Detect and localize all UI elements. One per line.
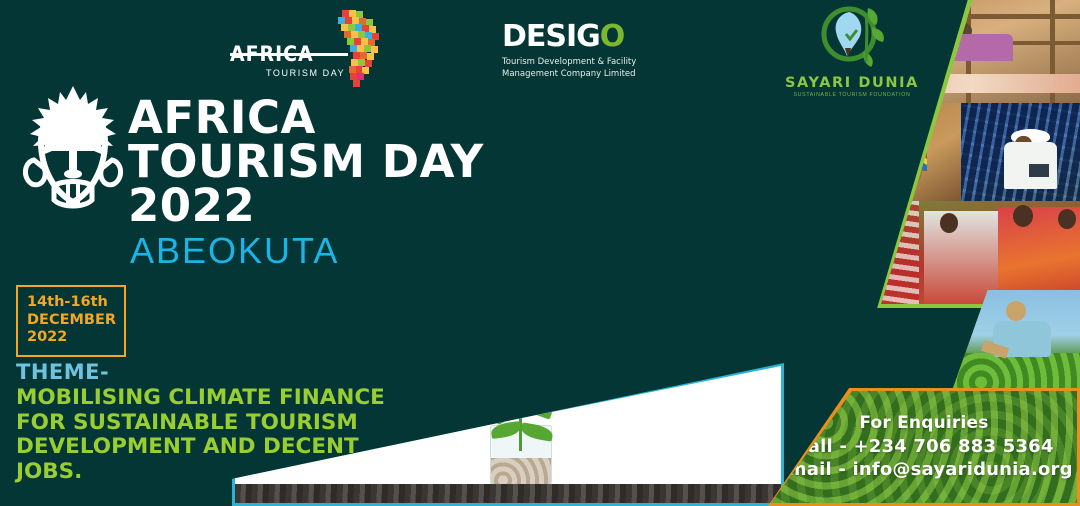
atd-tagline: TOURISM DAY (266, 68, 345, 78)
date-line-1: 14th-16th (27, 294, 115, 312)
collage-middle-row (830, 103, 1080, 200)
sprout-leaf (521, 395, 554, 419)
theme-body-line-2: FOR SUSTAINABLE TOURISM (16, 411, 416, 436)
desigo-tagline-line1: Tourism Development & Facility (502, 56, 682, 68)
desigo-wordmark-o: O (600, 19, 625, 54)
atd-strike-line (230, 53, 348, 56)
desigo-logo: DESIGO Tourism Development & Facility Ma… (502, 22, 682, 81)
african-tribal-mask-icon (14, 84, 132, 219)
coins-pile (491, 458, 551, 486)
headline-line-1: AFRICA (128, 96, 548, 140)
date-line-2: DECEMBER (27, 312, 115, 330)
theme-body-line-1: MOBILISING CLIMATE FINANCE (16, 386, 416, 411)
hero-headline: AFRICA TOURISM DAY 2022 ABEOKUTA (128, 96, 548, 272)
desigo-wordmark-text: DESIG (502, 19, 600, 54)
headline-line-3: 2022 (128, 184, 548, 228)
contact-panel-inner: For Enquiries Call - +234 706 883 5364 E… (771, 391, 1077, 503)
maasai-group-photo (830, 201, 1080, 304)
desigo-wordmark: DESIGO (502, 22, 682, 52)
headline-city: ABEOKUTA (130, 230, 548, 272)
desigo-tagline-line2: Management Company Limited (502, 68, 682, 80)
africa-tourism-day-banner: AFRICA TOURISM DAY DESIGO Tourism Develo… (0, 0, 1080, 506)
date-line-3: 2022 (27, 329, 115, 347)
africa-tourism-day-logo: AFRICA TOURISM DAY (228, 8, 388, 90)
sayari-dunia-logo: SAYARI DUNIA SUSTAINABLE TOURISM FOUNDAT… (782, 4, 922, 98)
theme-label: THEME- (16, 360, 416, 384)
contact-panel: For Enquiries Call - +234 706 883 5364 E… (768, 388, 1080, 506)
sayari-dunia-subtitle: SUSTAINABLE TOURISM FOUNDATION (782, 92, 922, 98)
headline-line-2: TOURISM DAY (128, 140, 548, 184)
sayari-dunia-name: SAYARI DUNIA (782, 75, 922, 91)
basket-weaver-photo (830, 103, 961, 200)
contact-heading: For Enquiries (859, 413, 988, 435)
africa-leaf-globe-icon (816, 4, 888, 68)
desigo-tagline: Tourism Development & Facility Managemen… (502, 56, 682, 81)
solar-engineer-photo (961, 103, 1080, 200)
soil-strip (235, 484, 781, 503)
contact-email[interactable]: Email - info@sayaridunia.org (775, 458, 1072, 481)
contact-phone[interactable]: Call - +234 706 883 5364 (794, 435, 1053, 458)
event-date-badge: 14th-16th DECEMBER 2022 (16, 285, 126, 357)
